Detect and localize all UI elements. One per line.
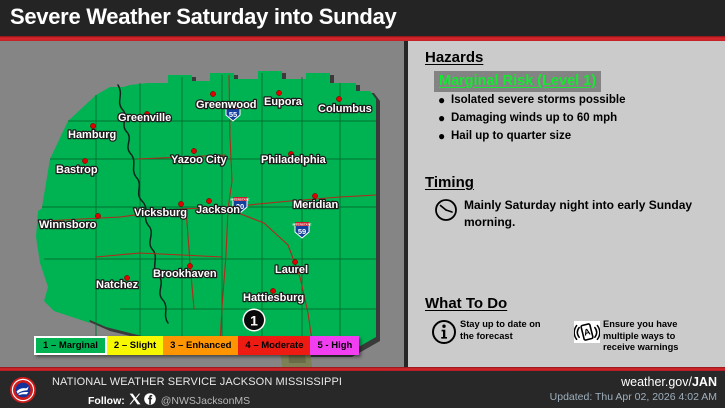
city-dot xyxy=(312,193,317,198)
svg-text:INTERSTATE: INTERSTATE xyxy=(231,197,250,201)
city-label: Hamburg xyxy=(68,129,116,141)
hazard-item: ●Damaging winds up to 60 mph xyxy=(438,111,723,126)
city-label: Bastrop xyxy=(56,164,98,176)
office-name: NATIONAL WEATHER SERVICE JACKSON MISSISS… xyxy=(52,376,342,388)
svg-text:55: 55 xyxy=(229,110,237,119)
hazard-text: Hail up to quarter size xyxy=(451,129,571,144)
website-office: JAN xyxy=(692,375,717,389)
legend-item[interactable]: 4 – Moderate xyxy=(238,336,310,355)
action-list: Stay up to date on the forecast A xyxy=(431,319,721,354)
hazard-item: ●Hail up to quarter size xyxy=(438,129,723,144)
legend-item[interactable]: 3 – Enhanced xyxy=(163,336,238,355)
forecast-map[interactable]: INTERSTATE 55 INTERSTATE 20 INTERSTATE 5… xyxy=(0,41,404,367)
map-graphic: INTERSTATE 55 INTERSTATE 20 INTERSTATE 5… xyxy=(0,41,404,367)
risk-marker-label: 1 xyxy=(250,313,258,329)
hazard-text: Damaging winds up to 60 mph xyxy=(451,111,617,126)
action-text: Stay up to date on the forecast xyxy=(460,319,556,342)
timing-row: Mainly Saturday night into early Sunday … xyxy=(434,197,725,231)
hazard-item: ●Isolated severe storms possible xyxy=(438,93,723,108)
city-label: Natchez xyxy=(96,279,139,291)
risk-level-text: Marginal Risk (Level 1) xyxy=(439,73,596,89)
city-label: Winnsboro xyxy=(39,219,97,231)
action-text: Ensure you have multiple ways to receive… xyxy=(603,319,699,354)
risk-legend[interactable]: 1 – Marginal2 – Slight3 – Enhanced4 – Mo… xyxy=(34,336,359,355)
clock-icon xyxy=(434,198,458,227)
city-dot xyxy=(210,91,215,96)
hazard-list: ●Isolated severe storms possible●Damagin… xyxy=(438,93,723,147)
follow-label: Follow: xyxy=(88,395,125,407)
action-item: Stay up to date on the forecast xyxy=(431,319,556,350)
bullet-icon: ● xyxy=(438,93,451,108)
action-item: A Ensure you have multiple ways to recei… xyxy=(574,319,699,354)
city-label: Laurel xyxy=(275,264,308,276)
nws-weather-graphic: Severe Weather Saturday into Sunday xyxy=(0,0,725,408)
city-label: Brookhaven xyxy=(153,268,217,280)
city-label: Vicksburg xyxy=(134,207,187,219)
info-panel: Hazards Marginal Risk (Level 1) ●Isolate… xyxy=(408,41,725,367)
city-dot xyxy=(95,213,100,218)
nws-logo-icon xyxy=(8,376,38,408)
website-prefix: weather.gov/ xyxy=(621,375,692,389)
svg-text:INTERSTATE: INTERSTATE xyxy=(293,222,312,226)
city-dot xyxy=(206,198,211,203)
city-label: Yazoo City xyxy=(171,154,228,166)
legend-item[interactable]: 2 – Slight xyxy=(107,336,163,355)
hazards-heading: Hazards xyxy=(425,49,483,66)
svg-text:59: 59 xyxy=(298,227,306,236)
city-label: Hattiesburg xyxy=(243,292,304,304)
city-dot xyxy=(276,90,281,95)
phone-alert-icon: A xyxy=(574,319,600,350)
legend-item[interactable]: 5 - High xyxy=(310,336,359,355)
risk-level-marker[interactable]: 1 xyxy=(243,309,266,332)
timing-text: Mainly Saturday night into early Sunday … xyxy=(464,197,725,231)
follow-row: Follow: @NWSJacksonMS xyxy=(88,392,250,408)
city-dot xyxy=(191,148,196,153)
hazard-text: Isolated severe storms possible xyxy=(451,93,626,108)
website-label[interactable]: weather.gov/JAN xyxy=(621,375,717,389)
city-label: Meridian xyxy=(293,199,339,211)
header-bar: Severe Weather Saturday into Sunday xyxy=(0,0,725,36)
info-circle-icon xyxy=(431,319,457,350)
city-dot xyxy=(336,96,341,101)
city-label: Greenville xyxy=(118,112,171,124)
page-title: Severe Weather Saturday into Sunday xyxy=(10,4,396,30)
city-dot xyxy=(82,158,87,163)
social-handle[interactable]: @NWSJacksonMS xyxy=(161,395,250,407)
bullet-icon: ● xyxy=(438,111,451,126)
x-twitter-icon[interactable] xyxy=(129,392,141,408)
city-label: Philadelphia xyxy=(261,154,327,166)
timing-heading: Timing xyxy=(425,174,474,191)
risk-level-badge: Marginal Risk (Level 1) xyxy=(434,71,601,92)
city-label: Greenwood xyxy=(196,99,257,111)
city-label: Jackson xyxy=(196,204,240,216)
footer-bar: NATIONAL WEATHER SERVICE JACKSON MISSISS… xyxy=(0,371,725,408)
updated-timestamp: Updated: Thu Apr 02, 2026 4:02 AM xyxy=(550,391,717,403)
city-label: Columbus xyxy=(318,103,372,115)
legend-item[interactable]: 1 – Marginal xyxy=(34,336,107,355)
city-dot xyxy=(178,201,183,206)
city-label: Eupora xyxy=(264,96,303,108)
city-dot xyxy=(90,123,95,128)
whattodo-heading: What To Do xyxy=(425,295,507,312)
bullet-icon: ● xyxy=(438,129,451,144)
facebook-icon[interactable] xyxy=(144,392,156,408)
